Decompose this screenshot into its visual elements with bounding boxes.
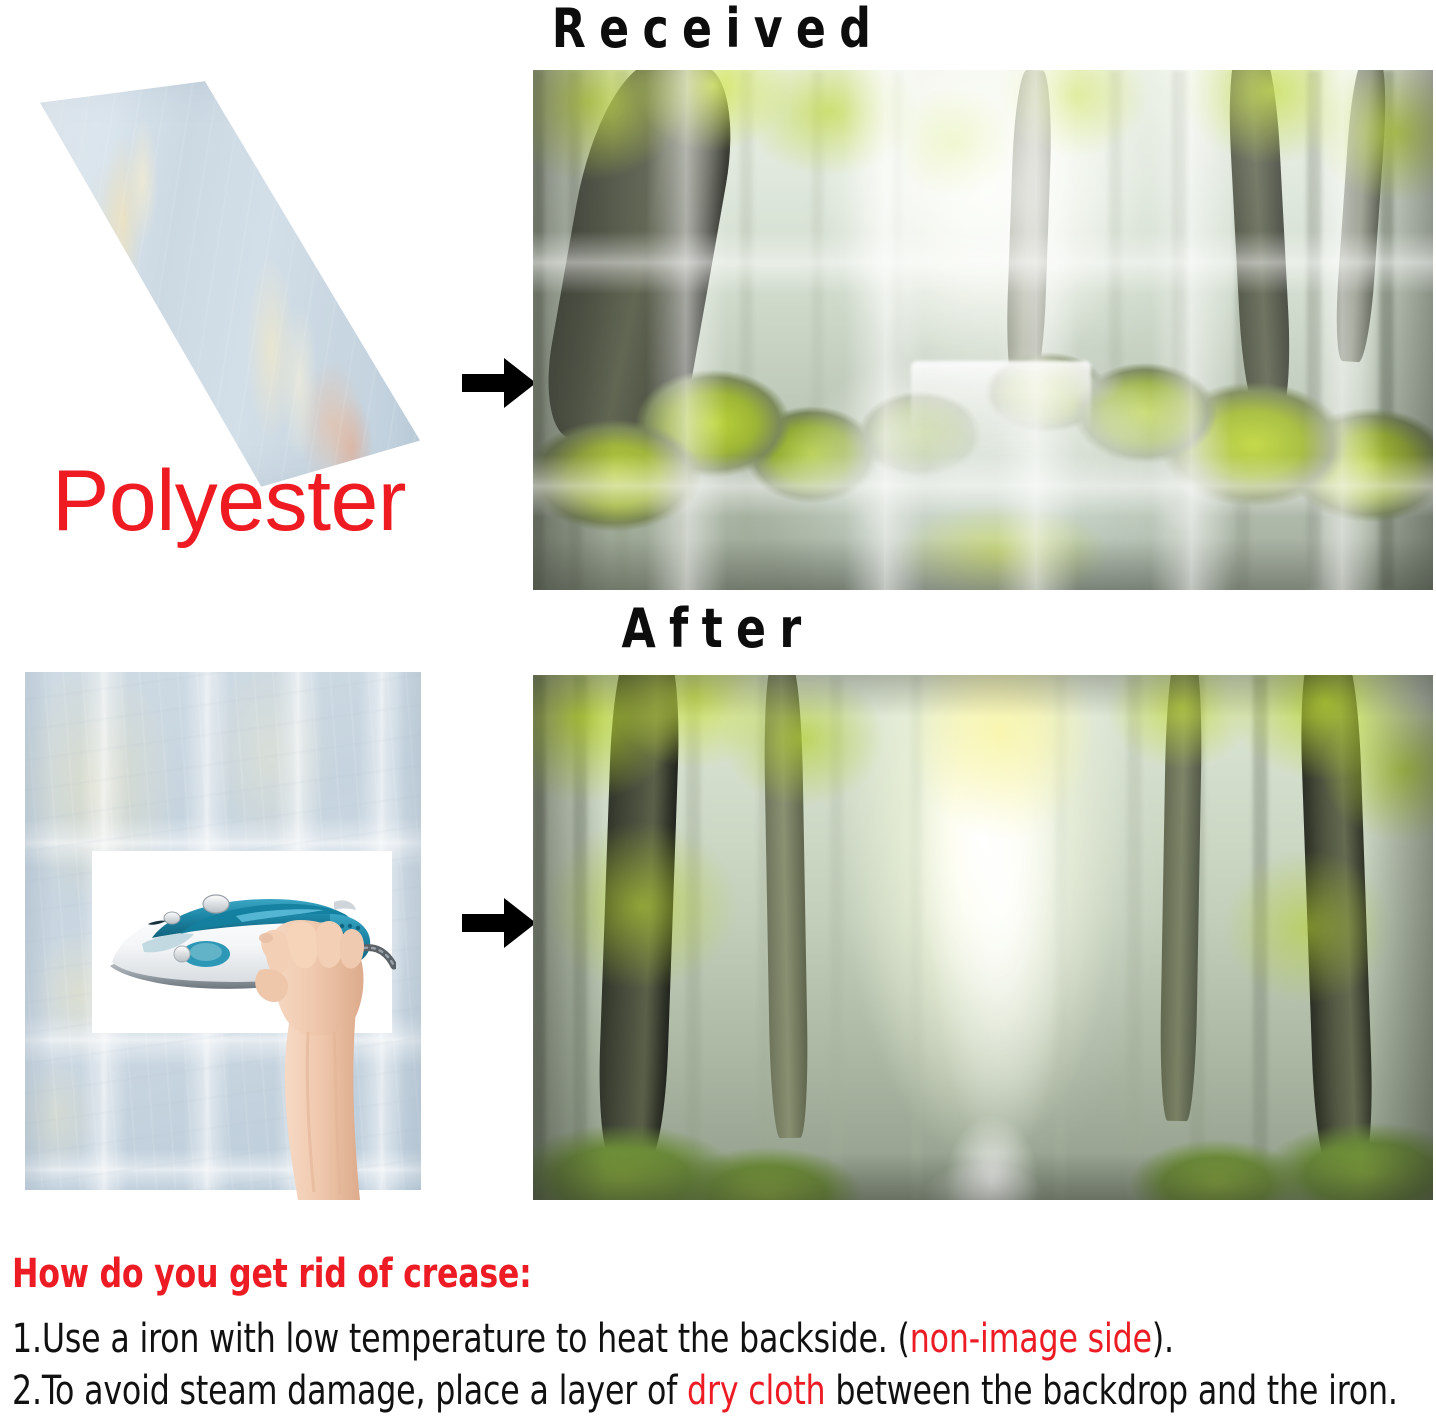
received-vignette (533, 70, 1433, 590)
forearm (285, 1008, 360, 1200)
care-item-text-after: between the backdrop and the iron. (825, 1368, 1397, 1414)
received-section-title: Received (129, 2, 1307, 56)
care-instructions-block: How do you get rid of crease: 1.Use a ir… (12, 1252, 1432, 1417)
care-item-text-after: ). (1152, 1316, 1174, 1362)
care-item-text-before: Use a iron with low temperature to heat … (42, 1316, 910, 1362)
care-instruction-item: 2.To avoid steam damage, place a layer o… (12, 1365, 1262, 1417)
care-item-number: 1. (12, 1316, 42, 1362)
care-instruction-item: 1.Use a iron with low temperature to hea… (12, 1313, 1262, 1365)
iron-knob (174, 946, 190, 962)
iron-cord-relief (334, 900, 356, 910)
swatch-edge-shading (18, 78, 420, 490)
right-arrow-icon (460, 892, 538, 954)
care-item-number: 2. (12, 1368, 42, 1414)
after-vignette (533, 675, 1433, 1200)
after-section-title: After (129, 602, 1307, 656)
hand-holding-iron (236, 912, 384, 1202)
polyester-material-label: Polyester (52, 458, 406, 544)
iron-steam-button (203, 895, 229, 913)
care-instructions-heading: How do you get rid of crease: (12, 1252, 1262, 1297)
after-backdrop-image (533, 675, 1433, 1200)
care-item-highlight: dry cloth (687, 1368, 825, 1414)
right-arrow-icon (460, 352, 538, 414)
iron-spray-button (164, 912, 180, 924)
received-backdrop-image (533, 70, 1433, 590)
care-item-text-before: To avoid steam damage, place a layer of (42, 1368, 687, 1414)
care-item-highlight: non-image side (910, 1316, 1152, 1362)
polyester-fabric-swatch (18, 78, 420, 490)
fingernail (259, 933, 273, 943)
